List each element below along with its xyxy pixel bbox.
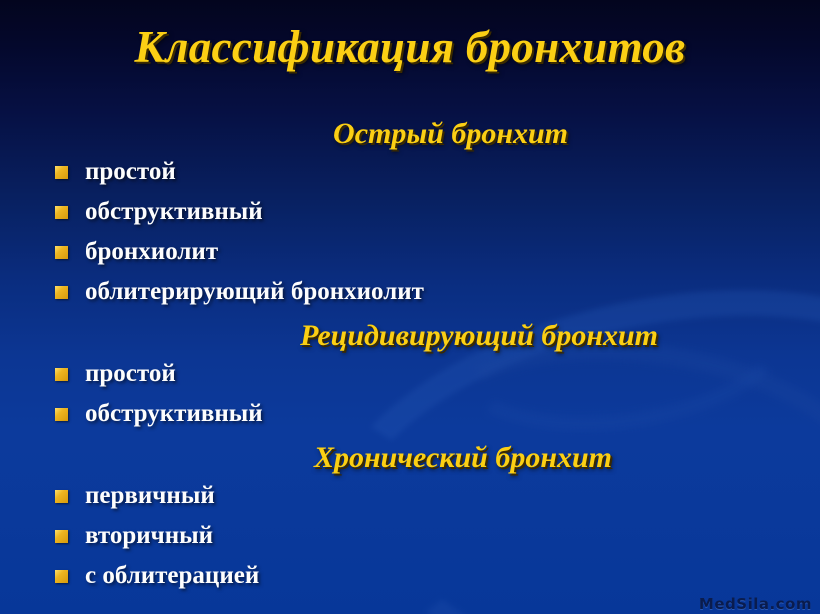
list-item: простой <box>0 354 820 394</box>
square-bullet-icon <box>55 530 68 543</box>
section-heading: Рецидивирующий бронхит <box>0 318 820 354</box>
slide-title: Классификация бронхитов <box>0 18 820 76</box>
list-item: с облитерацией <box>0 556 820 596</box>
list-item-label: облитерирующий бронхиолит <box>85 277 424 307</box>
square-bullet-icon <box>55 490 68 503</box>
square-bullet-icon <box>55 246 68 259</box>
bullet-list: первичный вторичный с облитерацией <box>0 476 820 596</box>
list-item-label: обструктивный <box>85 197 263 227</box>
list-item: обструктивный <box>0 192 820 232</box>
list-item: простой <box>0 152 820 192</box>
list-item: облитерирующий бронхиолит <box>0 272 820 312</box>
list-item-label: бронхиолит <box>85 237 218 267</box>
section-chronic-bronchitis: Хронический бронхит первичный вторичный … <box>0 440 820 596</box>
bullet-list: простой обструктивный бронхиолит облитер… <box>0 152 820 312</box>
section-heading: Острый бронхит <box>0 116 820 152</box>
list-item-label: первичный <box>85 481 215 511</box>
square-bullet-icon <box>55 368 68 381</box>
list-item-label: обструктивный <box>85 399 263 429</box>
section-acute-bronchitis: Острый бронхит простой обструктивный бро… <box>0 116 820 312</box>
list-item: обструктивный <box>0 394 820 434</box>
watermark-label: MedSila.com <box>699 595 812 613</box>
list-item-label: простой <box>85 359 176 389</box>
list-item: бронхиолит <box>0 232 820 272</box>
square-bullet-icon <box>55 570 68 583</box>
square-bullet-icon <box>55 408 68 421</box>
square-bullet-icon <box>55 206 68 219</box>
list-item: первичный <box>0 476 820 516</box>
square-bullet-icon <box>55 166 68 179</box>
presentation-slide: Классификация бронхитов Острый бронхит п… <box>0 0 820 614</box>
list-item-label: с облитерацией <box>85 561 259 591</box>
bullet-list: простой обструктивный <box>0 354 820 434</box>
list-item: вторичный <box>0 516 820 556</box>
square-bullet-icon <box>55 286 68 299</box>
list-item-label: простой <box>85 157 176 187</box>
list-item-label: вторичный <box>85 521 213 551</box>
section-heading: Хронический бронхит <box>0 440 820 476</box>
section-recurrent-bronchitis: Рецидивирующий бронхит простой обструкти… <box>0 318 820 434</box>
